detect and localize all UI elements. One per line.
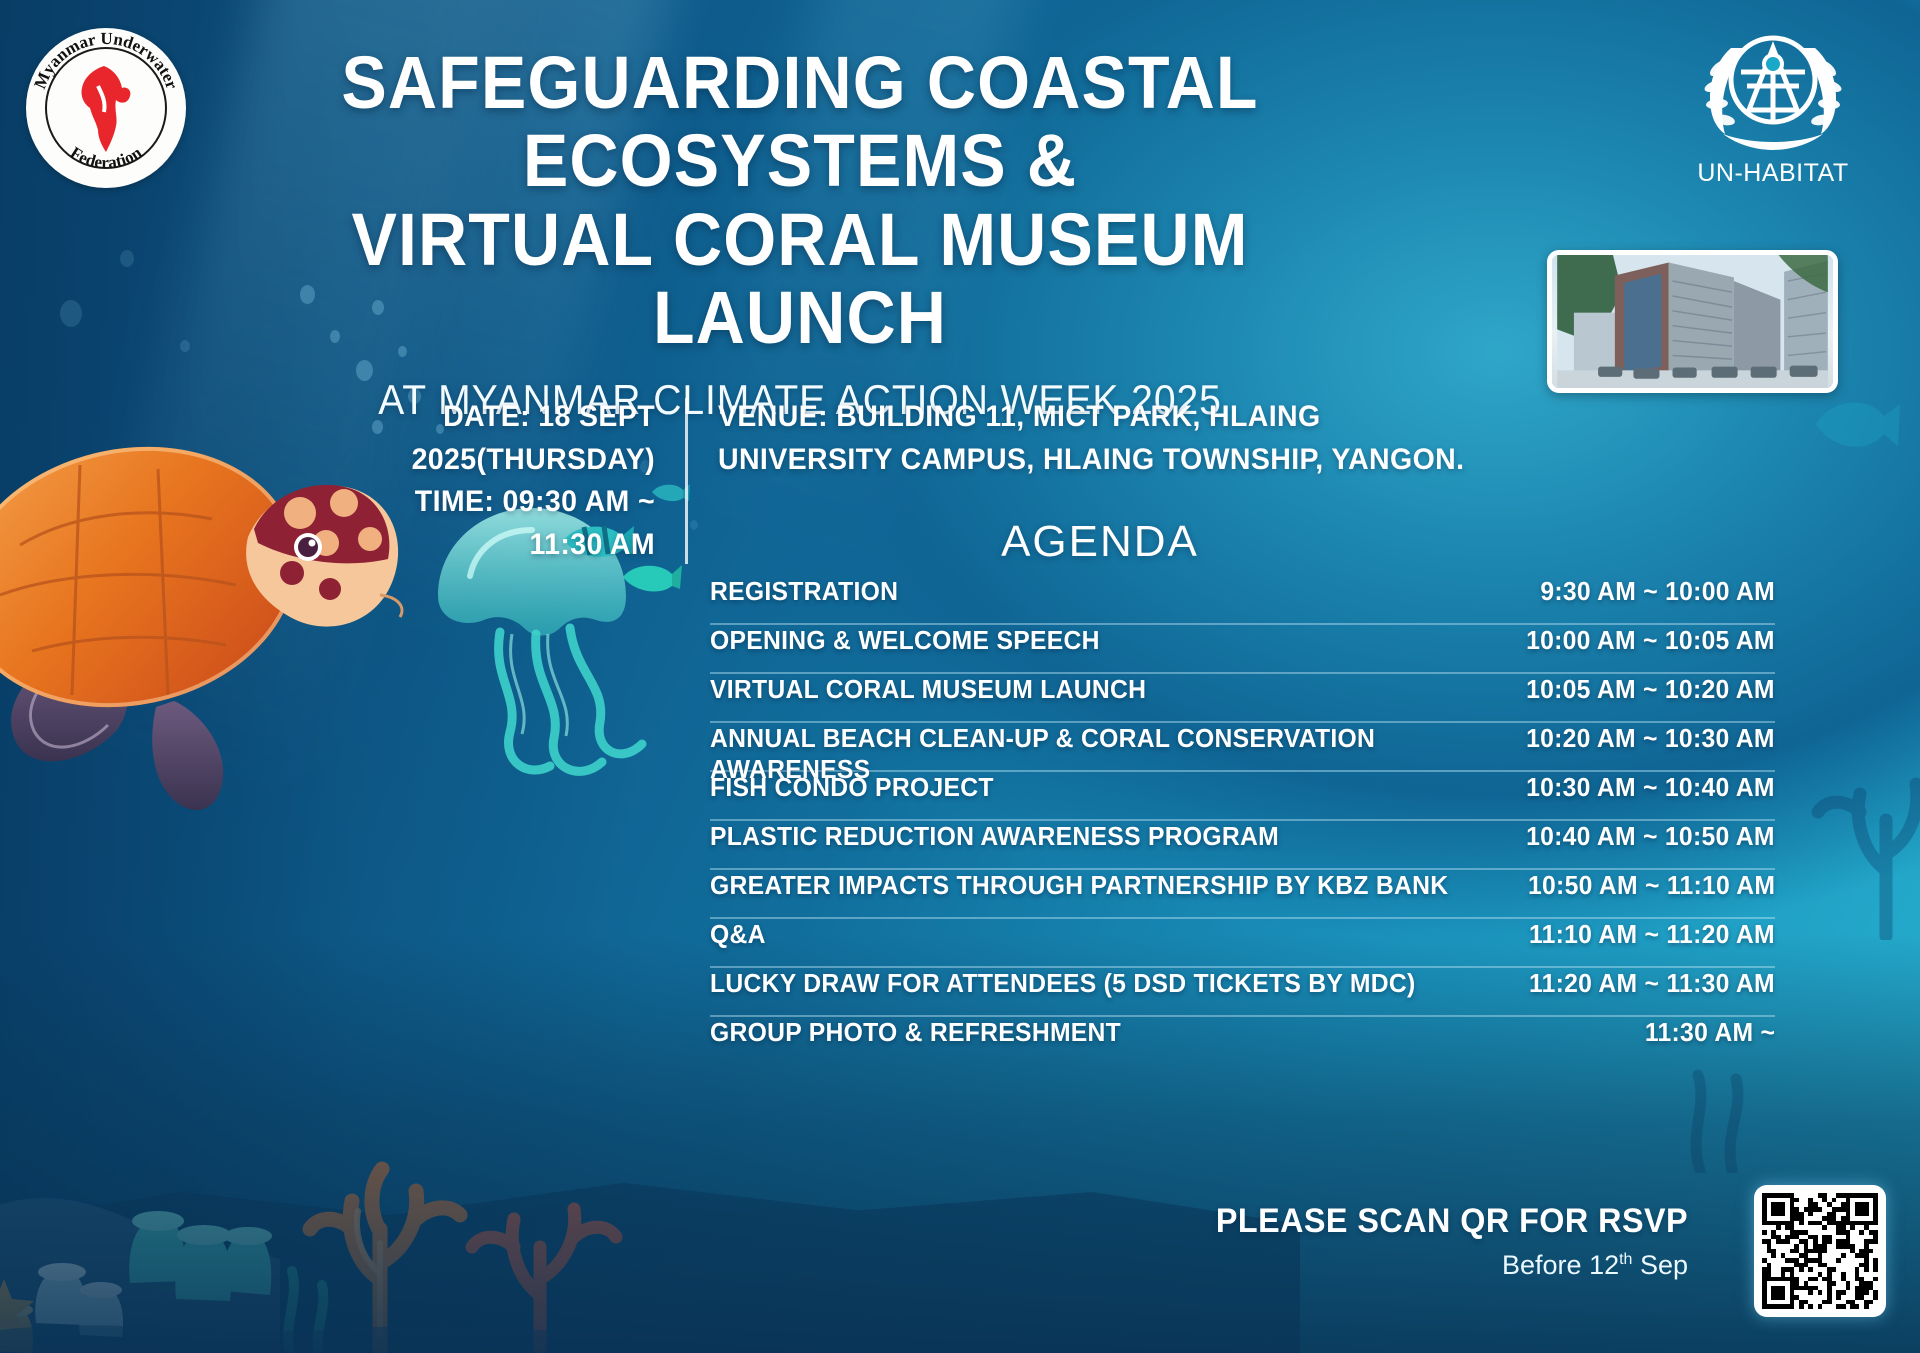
agenda-row: PLASTIC REDUCTION AWARENESS PROGRAM10:40…	[710, 821, 1775, 870]
event-date-time: DATE: 18 SEPT 2025(THURSDAY) TIME: 09:30…	[355, 396, 685, 566]
page-title-line-2: VIRTUAL CORAL MUSEUM LAUNCH	[257, 201, 1343, 358]
agenda-item-time: 10:00 AM ~ 10:05 AM	[1526, 625, 1775, 656]
venue-photo	[1547, 250, 1838, 393]
agenda-table: REGISTRATION9:30 AM ~ 10:00 AMOPENING & …	[710, 576, 1775, 1066]
agenda-item-name: LUCKY DRAW FOR ATTENDEES (5 DSD TICKETS …	[710, 968, 1429, 999]
agenda-item-time: 11:30 AM ~	[1645, 1017, 1775, 1048]
bubble	[180, 340, 190, 352]
agenda-item-time: 10:05 AM ~ 10:20 AM	[1526, 674, 1775, 705]
agenda-item-time: 10:20 AM ~ 10:30 AM	[1526, 723, 1775, 754]
agenda-item-name: REGISTRATION	[710, 576, 912, 607]
agenda-heading: AGENDA	[700, 517, 1500, 567]
agenda-row: ANNUAL BEACH CLEAN-UP & CORAL CONSERVATI…	[710, 723, 1775, 772]
agenda-item-time: 11:10 AM ~ 11:20 AM	[1529, 919, 1775, 950]
event-poster: Myanmar Underwater Federation	[0, 0, 1920, 1353]
event-venue-line-1: VENUE: BUILDING 11, MICT PARK, HLAING	[718, 396, 1466, 439]
agenda-item-time: 10:30 AM ~ 10:40 AM	[1526, 772, 1775, 803]
un-habitat-label: UN-HABITAT	[1684, 159, 1862, 188]
agenda-item-time: 11:20 AM ~ 11:30 AM	[1529, 968, 1775, 999]
venue-photo-buildings	[1552, 255, 1833, 388]
svg-text:Federation: Federation	[67, 143, 146, 172]
svg-text:Myanmar Underwater: Myanmar Underwater	[30, 29, 182, 92]
qr-code[interactable]	[1754, 1185, 1886, 1317]
agenda-item-time: 9:30 AM ~ 10:00 AM	[1540, 576, 1775, 607]
agenda-row: REGISTRATION9:30 AM ~ 10:00 AM	[710, 576, 1775, 625]
un-habitat-logo: UN-HABITAT	[1684, 24, 1862, 192]
agenda-row: VIRTUAL CORAL MUSEUM LAUNCH10:05 AM ~ 10…	[710, 674, 1775, 723]
rsvp-call-to-action: PLEASE SCAN QR FOR RSVP	[1216, 1202, 1688, 1241]
logo-arc-text: Myanmar Underwater Federation	[26, 28, 186, 188]
rsvp-deadline: Before 12th Sep	[1191, 1250, 1688, 1281]
un-habitat-emblem-icon	[1697, 24, 1849, 150]
qr-code-pattern	[1762, 1193, 1878, 1309]
agenda-item-name: OPENING & WELCOME SPEECH	[710, 625, 1113, 656]
rsvp-deadline-suffix: th	[1619, 1251, 1632, 1268]
rsvp-block: PLEASE SCAN QR FOR RSVP Before 12th Sep	[1191, 1202, 1688, 1281]
agenda-item-time: 10:50 AM ~ 11:10 AM	[1528, 870, 1775, 901]
agenda-item-name: GREATER IMPACTS THROUGH PARTNERSHIP BY K…	[710, 870, 1462, 901]
rsvp-deadline-month: Sep	[1632, 1250, 1688, 1280]
agenda-row: OPENING & WELCOME SPEECH10:00 AM ~ 10:05…	[710, 625, 1775, 674]
agenda-item-name: FISH CONDO PROJECT	[710, 772, 1007, 803]
agenda-item-name: VIRTUAL CORAL MUSEUM LAUNCH	[710, 674, 1160, 705]
bubble	[60, 300, 82, 327]
event-date: DATE: 18 SEPT 2025(THURSDAY)	[370, 396, 655, 481]
agenda-item-name: Q&A	[710, 919, 779, 950]
page-title-line-1: SAFEGUARDING COASTAL ECOSYSTEMS &	[257, 44, 1343, 201]
bubble	[120, 250, 134, 267]
agenda-row: Q&A11:10 AM ~ 11:20 AM	[710, 919, 1775, 968]
agenda-item-name: GROUP PHOTO & REFRESHMENT	[710, 1017, 1134, 1048]
coral-silhouette-right	[1790, 700, 1920, 940]
title-block: SAFEGUARDING COASTAL ECOSYSTEMS & VIRTUA…	[210, 44, 1390, 424]
event-venue-line-2: UNIVERSITY CAMPUS, HLAING TOWNSHIP, YANG…	[718, 439, 1466, 482]
agenda-row: GREATER IMPACTS THROUGH PARTNERSHIP BY K…	[710, 870, 1775, 919]
agenda-item-time: 10:40 AM ~ 10:50 AM	[1526, 821, 1775, 852]
rsvp-deadline-prefix: Before 12	[1502, 1250, 1619, 1280]
fish-silhouette-right	[1810, 380, 1900, 470]
agenda-row: LUCKY DRAW FOR ATTENDEES (5 DSD TICKETS …	[710, 968, 1775, 1017]
myanmar-underwater-federation-logo: Myanmar Underwater Federation	[26, 28, 186, 188]
agenda-row: GROUP PHOTO & REFRESHMENT11:30 AM ~	[710, 1017, 1775, 1066]
agenda-item-name: PLASTIC REDUCTION AWARENESS PROGRAM	[710, 821, 1292, 852]
event-time: TIME: 09:30 AM ~ 11:30 AM	[370, 481, 655, 566]
